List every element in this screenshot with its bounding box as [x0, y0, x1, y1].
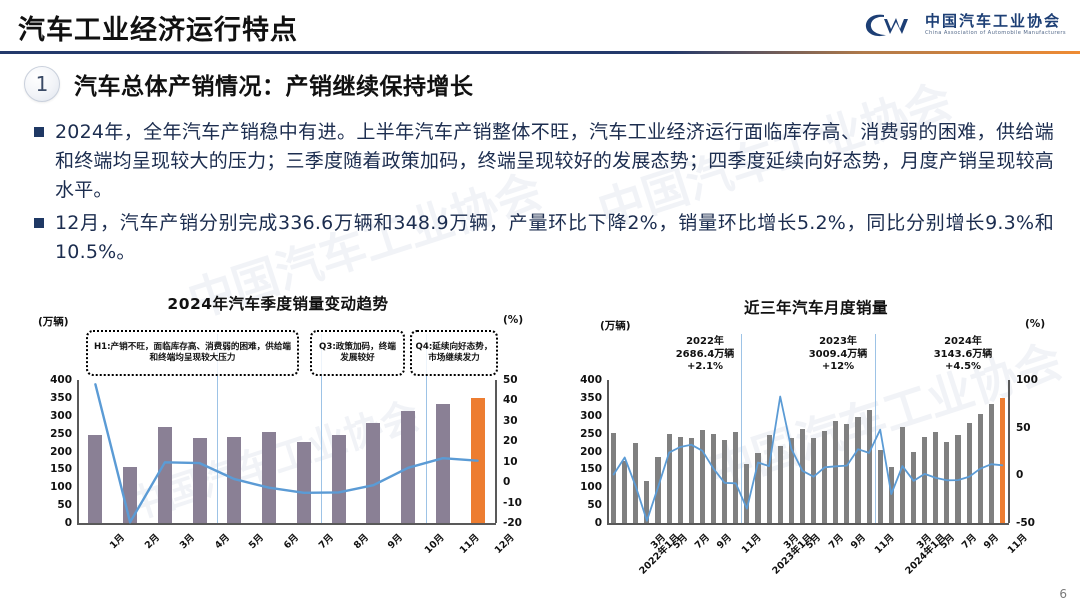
logo-text-en: China Association of Automobile Manufact… — [925, 30, 1066, 37]
bullet-square-icon — [34, 218, 44, 228]
y-tick-label: 100 — [30, 481, 72, 493]
chart-plot-area: 050100150200250300350400-500501002022年1月… — [608, 380, 1008, 523]
page-number: 6 — [1059, 587, 1067, 601]
bullet-text: 2024年，全年汽车产销稳中有进。上半年汽车产销整体不旺，汽车工业经济运行面临库… — [55, 118, 1054, 205]
y-tick-label: 400 — [30, 374, 72, 386]
bullet-list: 2024年，全年汽车产销稳中有进。上半年汽车产销整体不旺，汽车工业经济运行面临库… — [34, 118, 1054, 270]
annotation-line: 2686.4万辆 — [650, 349, 760, 362]
y-tick-label: 200 — [30, 446, 72, 458]
annotation-line: 2022年 — [650, 336, 760, 349]
chart-x-axis — [77, 523, 496, 525]
chart-three-year-monthly: 近三年汽车月度销量 (万辆) (%) 050100150200250300350… — [560, 292, 1072, 592]
chart-annotation-y2022: 2022年2686.4万辆+2.1% — [650, 336, 760, 374]
x-tick-label: 2月 — [141, 530, 162, 551]
x-tick-label: 9月 — [980, 530, 1001, 551]
x-tick-label: 10月 — [421, 530, 447, 556]
y-tick-label: 150 — [30, 463, 72, 475]
list-item: 12月，汽车产销分别完成336.6万辆和348.9万辆，产量环比下降2%，销量环… — [34, 209, 1054, 267]
section-title: 汽车总体产销情况：产销继续保持增长 — [74, 67, 474, 101]
x-tick-label: 12月 — [490, 530, 516, 556]
annotation-line: 3009.4万辆 — [783, 349, 893, 362]
annotation-line: 2024年 — [908, 336, 1018, 349]
y-tick-label-right: 20 — [503, 435, 518, 447]
chart-y-unit-right: (%) — [1025, 318, 1045, 330]
chart-annotation-q4: Q4:延续向好态势，市场继续发力 — [410, 330, 498, 376]
chart-quarterly-trend: 2024年汽车季度销量变动趋势 (万辆) (%) 050100150200250… — [22, 292, 534, 592]
x-tick-label: 7月 — [958, 530, 979, 551]
y-tick-label: 0 — [30, 517, 72, 529]
chart-y-axis-right — [495, 380, 497, 523]
section-heading: 1 汽车总体产销情况：产销继续保持增长 — [24, 66, 474, 102]
y-tick-label-right: 0 — [1016, 469, 1023, 481]
y-tick-label-right: 50 — [1016, 422, 1031, 434]
cm-monogram-icon — [862, 10, 918, 40]
annotation-line: 3143.6万辆 — [908, 349, 1018, 362]
x-tick-label: 9月 — [713, 530, 734, 551]
header-divider — [0, 51, 1080, 54]
bullet-square-icon — [34, 127, 44, 137]
y-tick-label: 50 — [560, 499, 602, 511]
slide-header: 汽车工业经济运行特点 中国汽车工业协会 China Association of… — [0, 0, 1080, 52]
logo-text-cn: 中国汽车工业协会 — [925, 14, 1066, 30]
x-tick-label: 9月 — [384, 530, 405, 551]
y-tick-label-right: 100 — [1016, 374, 1038, 386]
chart-line-series — [608, 380, 1008, 523]
chart-annotation-y2023: 2023年3009.4万辆+12% — [783, 336, 893, 374]
y-tick-label: 300 — [560, 410, 602, 422]
x-tick-label: 11月 — [737, 530, 763, 556]
chart-line-series — [78, 380, 495, 523]
y-tick-label: 250 — [30, 428, 72, 440]
annotation-line: 2023年 — [783, 336, 893, 349]
bullet-text: 12月，汽车产销分别完成336.6万辆和348.9万辆，产量环比下降2%，销量环… — [55, 209, 1054, 267]
chart-title: 2024年汽车季度销量变动趋势 — [22, 292, 534, 314]
x-tick-label: 11月 — [1004, 530, 1030, 556]
chart-y-unit-left: (万辆) — [38, 314, 69, 329]
x-tick-label: 4月 — [210, 530, 231, 551]
y-tick-label: 150 — [560, 463, 602, 475]
x-tick-label: 5月 — [245, 530, 266, 551]
annotation-line: +4.5% — [908, 361, 1018, 374]
y-tick-label: 300 — [30, 410, 72, 422]
y-tick-label-right: -50 — [1016, 517, 1035, 529]
y-tick-label: 350 — [560, 392, 602, 404]
y-tick-label-right: -10 — [503, 497, 522, 509]
chart-x-axis — [607, 523, 1009, 525]
y-tick-label-right: 0 — [503, 476, 510, 488]
x-tick-label: 7月 — [315, 530, 336, 551]
chart-y-axis-right — [1008, 380, 1010, 523]
y-tick-label-right: -20 — [503, 517, 522, 529]
y-tick-label-right: 40 — [503, 394, 518, 406]
annotation-line: +12% — [783, 361, 893, 374]
page-title: 汽车工业经济运行特点 — [18, 8, 298, 47]
y-tick-label: 100 — [560, 481, 602, 493]
chart-annotation-h1: H1:产销不旺，面临库存高、消费弱的困难，供给端和终端均呈现较大压力 — [86, 330, 299, 376]
chart-annotation-q3: Q3:政策加码，终端发展较好 — [310, 330, 405, 376]
y-tick-label-right: 30 — [503, 415, 518, 427]
annotation-line: +2.1% — [650, 361, 760, 374]
y-tick-label: 250 — [560, 428, 602, 440]
chart-y-unit-right: (%) — [503, 314, 523, 326]
y-tick-label-right: 10 — [503, 456, 518, 468]
y-tick-label: 0 — [560, 517, 602, 529]
chart-plot-area: 050100150200250300350400-20-100102030405… — [78, 380, 495, 523]
y-tick-label: 200 — [560, 446, 602, 458]
x-tick-label: 1月 — [106, 530, 127, 551]
x-tick-label: 9月 — [846, 530, 867, 551]
x-tick-label: 11月 — [456, 530, 482, 556]
association-logo: 中国汽车工业协会 China Association of Automobile… — [862, 10, 1066, 40]
x-tick-label: 11月 — [871, 530, 897, 556]
chart-title: 近三年汽车月度销量 — [560, 296, 1072, 318]
x-tick-label: 7月 — [824, 530, 845, 551]
y-tick-label: 350 — [30, 392, 72, 404]
x-tick-label: 3月 — [176, 530, 197, 551]
list-item: 2024年，全年汽车产销稳中有进。上半年汽车产销整体不旺，汽车工业经济运行面临库… — [34, 118, 1054, 205]
section-number-badge: 1 — [24, 66, 60, 102]
chart-y-unit-left: (万辆) — [600, 318, 631, 333]
chart-annotation-y2024: 2024年3143.6万辆+4.5% — [908, 336, 1018, 374]
x-tick-label: 8月 — [349, 530, 370, 551]
x-tick-label: 6月 — [280, 530, 301, 551]
x-tick-label: 7月 — [691, 530, 712, 551]
y-tick-label: 50 — [30, 499, 72, 511]
y-tick-label-right: 50 — [503, 374, 518, 386]
y-tick-label: 400 — [560, 374, 602, 386]
